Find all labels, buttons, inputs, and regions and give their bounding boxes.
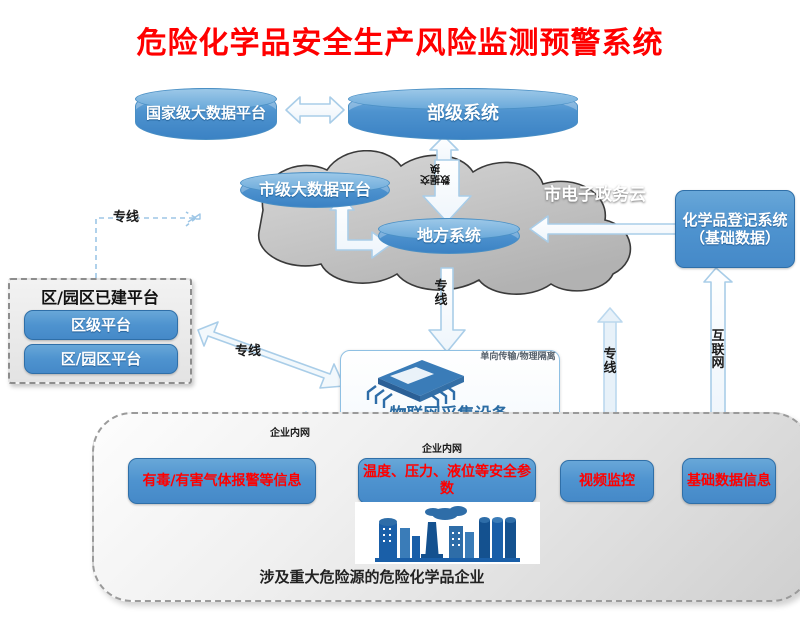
national-big-data-platform-node[interactable]: 国家级大数据平台 [135, 88, 277, 140]
chemical-registry-node[interactable]: 化学品登记系统（基础数据） [675, 190, 795, 268]
safety-params-label: 温度、压力、液位等安全参数 [359, 464, 535, 498]
internet-label: 互联网 [711, 330, 725, 371]
district-group-header: 区/园区已建平台 [10, 284, 190, 308]
page-title: 危险化学品安全生产风险监测预警系统 [0, 18, 800, 62]
data-exchange-label: 数据交换 [420, 162, 450, 183]
city-big-data-platform-node[interactable]: 市级大数据平台 [240, 172, 390, 208]
ministry-system-label: 部级系统 [427, 104, 499, 125]
city-platform-label: 市级大数据平台 [259, 181, 371, 199]
intranet-label-left: 企业内网 [270, 424, 310, 439]
ministry-system-node[interactable]: 部级系统 [348, 88, 578, 140]
park-platform-item[interactable]: 区/园区平台 [24, 344, 178, 374]
local-system-label: 地方系统 [417, 227, 481, 245]
district-platform-item[interactable]: 区级平台 [24, 310, 178, 340]
enterprise-caption: 涉及重大危险源的危险化学品企业 [92, 566, 652, 587]
gas-alarm-label: 有毒/有害气体报警等信息 [142, 473, 301, 490]
park-platform-label: 区/园区平台 [61, 350, 141, 368]
video-monitor-label: 视频监控 [579, 473, 635, 490]
enterprise-box-video[interactable]: 视频监控 [560, 460, 654, 502]
dedicated-line-label-center: 专线 [434, 280, 448, 307]
factory-icon [355, 502, 540, 564]
dedicated-line-label-diagonal: 专线 [235, 340, 261, 359]
enterprise-box-safety-params[interactable]: 温度、压力、液位等安全参数 [358, 458, 536, 504]
district-existing-platform-group: 区/园区已建平台 区级平台 区/园区平台 [8, 278, 192, 384]
enterprise-box-basic-data[interactable]: 基础数据信息 [682, 458, 776, 504]
enterprise-box-gas-alarm[interactable]: 有毒/有害气体报警等信息 [128, 458, 316, 504]
diagram-canvas: 危险化学品安全生产风险监测预警系统 市电子政务云 [0, 0, 800, 627]
national-platform-label: 国家级大数据平台 [146, 105, 266, 122]
intranet-label-center: 企业内网 [422, 440, 462, 455]
dedicated-line-label-right: 专线 [603, 348, 617, 375]
dedicated-line-label-left: 专线 [113, 206, 139, 225]
chemical-registry-label: 化学品登记系统（基础数据） [676, 211, 794, 247]
district-platform-label: 区级平台 [71, 316, 131, 334]
basic-data-label: 基础数据信息 [687, 473, 771, 490]
local-system-node[interactable]: 地方系统 [378, 218, 520, 254]
cloud-name-label: 市电子政务云 [520, 180, 670, 205]
iot-transmission-note: 单向传输/物理隔离 [478, 352, 558, 363]
